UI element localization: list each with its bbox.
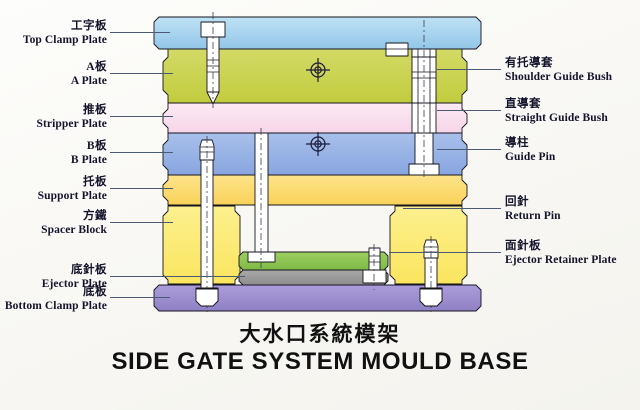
label-shoulder-guide-bush: 有托導套 Shoulder Guide Bush: [505, 57, 612, 84]
label-top-clamp-plate-cn: 工字板: [23, 20, 107, 34]
leader-top-clamp-plate: [110, 32, 170, 33]
label-guide-pin-en: Guide Pin: [505, 151, 555, 165]
label-spacer-block-cn: 方鐵: [41, 210, 107, 224]
label-return-pin: 回針 Return Pin: [505, 196, 561, 223]
label-bottom-clamp-plate-en: Bottom Clamp Plate: [5, 300, 107, 314]
leader-shoulder-guide-bush: [437, 69, 501, 70]
label-a-plate-en: A Plate: [71, 75, 107, 89]
label-top-clamp-plate-en: Top Clamp Plate: [23, 34, 107, 48]
bottom-clamp-bolt-right: [420, 289, 442, 306]
bottom-clamp-bolt-left: [196, 289, 218, 306]
label-support-plate-cn: 托板: [38, 176, 107, 190]
leader-guide-pin: [437, 149, 501, 150]
leader-stripper-plate: [110, 116, 173, 117]
label-b-plate: B板 B Plate: [71, 140, 107, 167]
label-shoulder-guide-bush-cn: 有托導套: [505, 57, 612, 71]
label-bottom-clamp-plate-cn: 底板: [5, 286, 107, 300]
label-guide-pin: 導柱 Guide Pin: [505, 137, 555, 164]
leader-a-plate: [110, 73, 173, 74]
label-top-clamp-plate: 工字板 Top Clamp Plate: [23, 20, 107, 47]
ejector-bolt-head: [363, 270, 386, 283]
label-stripper-plate-cn: 推板: [37, 104, 108, 118]
label-ejector-retainer-plate-cn: 面針板: [505, 240, 617, 254]
label-stripper-plate: 推板 Stripper Plate: [37, 104, 108, 131]
label-stripper-plate-en: Stripper Plate: [37, 118, 108, 132]
sprue-puller-pin: [255, 133, 268, 253]
label-straight-guide-bush-en: Straight Guide Bush: [505, 112, 608, 126]
leader-straight-guide-bush: [437, 110, 501, 111]
leader-b-plate: [110, 152, 173, 153]
top-clamp-bolt-head-right: [386, 43, 408, 56]
label-support-plate-en: Support Plate: [38, 190, 107, 204]
leader-bottom-clamp-plate: [110, 297, 170, 298]
label-support-plate: 托板 Support Plate: [38, 176, 107, 203]
label-return-pin-en: Return Pin: [505, 210, 561, 224]
label-ejector-retainer-plate-en: Ejector Retainer Plate: [505, 254, 617, 268]
label-straight-guide-bush: 直導套 Straight Guide Bush: [505, 98, 608, 125]
label-spacer-block-en: Spacer Block: [41, 224, 107, 238]
label-shoulder-guide-bush-en: Shoulder Guide Bush: [505, 71, 612, 85]
label-a-plate-cn: A板: [71, 61, 107, 75]
diagram-title: 大水口系統模架 SIDE GATE SYSTEM MOULD BASE: [0, 318, 640, 376]
label-ejector-retainer-plate: 面針板 Ejector Retainer Plate: [505, 240, 617, 267]
label-ejector-plate-cn: 底針板: [42, 264, 107, 278]
leader-ejector-retainer: [389, 252, 501, 253]
leader-support-plate: [110, 188, 173, 189]
mould-base-diagram-page: 工字板 Top Clamp Plate A板 A Plate 推板 Stripp…: [0, 0, 640, 410]
label-return-pin-cn: 回針: [505, 196, 561, 210]
label-b-plate-en: B Plate: [71, 154, 107, 168]
leader-spacer-block: [110, 222, 173, 223]
label-b-plate-cn: B板: [71, 140, 107, 154]
leader-return-pin: [403, 208, 501, 209]
label-straight-guide-bush-cn: 直導套: [505, 98, 608, 112]
label-bottom-clamp-plate: 底板 Bottom Clamp Plate: [5, 286, 107, 313]
diagram-title-english: SIDE GATE SYSTEM MOULD BASE: [0, 348, 640, 376]
label-guide-pin-cn: 導柱: [505, 137, 555, 151]
label-a-plate: A板 A Plate: [71, 61, 107, 88]
sprue-puller-head: [248, 252, 275, 262]
label-spacer-block: 方鐵 Spacer Block: [41, 210, 107, 237]
diagram-title-chinese: 大水口系統模架: [0, 318, 640, 348]
leader-ejector-plate: [110, 276, 245, 277]
